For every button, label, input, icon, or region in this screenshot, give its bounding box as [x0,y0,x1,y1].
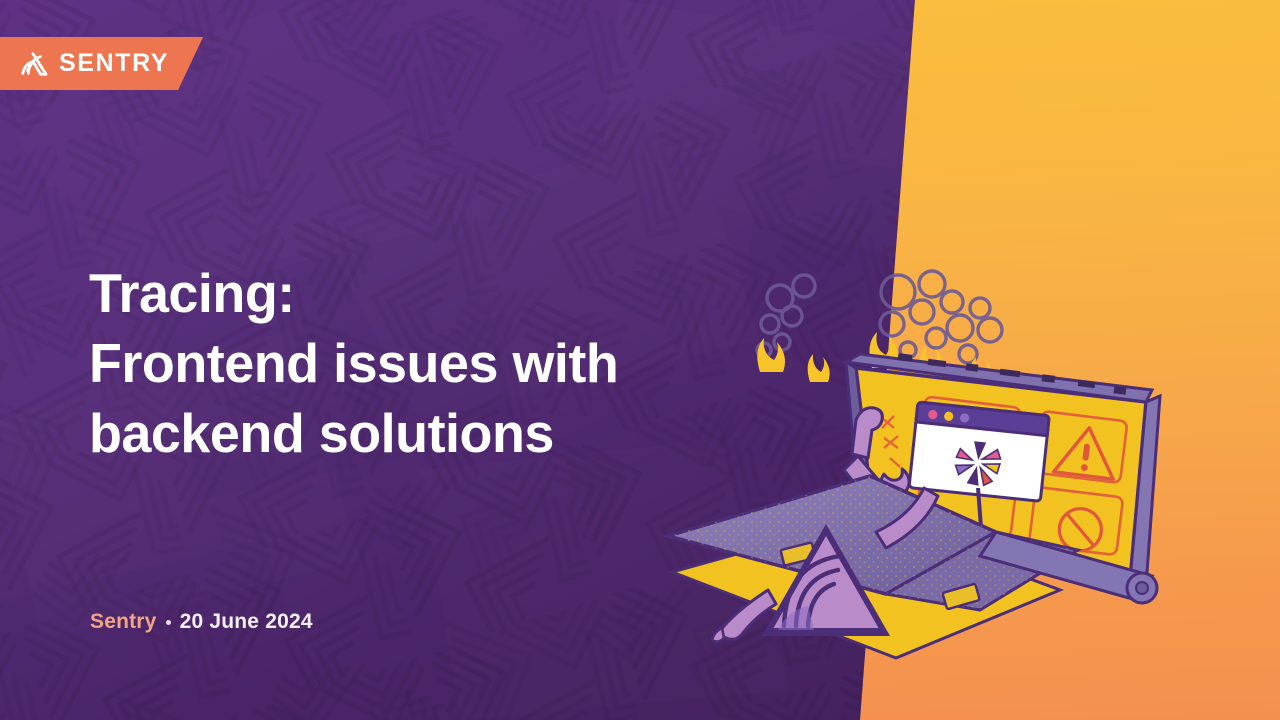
title-line-3: backend solutions [89,398,834,468]
page-title: Tracing: Frontend issues with backend so… [89,258,834,468]
byline: Sentry 20 June 2024 [90,610,313,634]
byline-org: Sentry [90,610,157,634]
sentry-logo-banner[interactable]: SENTRY [0,37,203,90]
title-line-2: Frontend issues with [89,328,834,398]
sentry-arch-logo-icon [18,51,48,77]
sentry-wordmark: SENTRY [59,49,169,78]
title-slide: SENTRY Tracing: Frontend issues with bac… [0,0,1280,720]
browser-window [909,402,1049,501]
title-line-1: Tracing: [89,258,834,328]
byline-separator-dot [166,620,171,625]
byline-date: 20 June 2024 [180,610,313,634]
